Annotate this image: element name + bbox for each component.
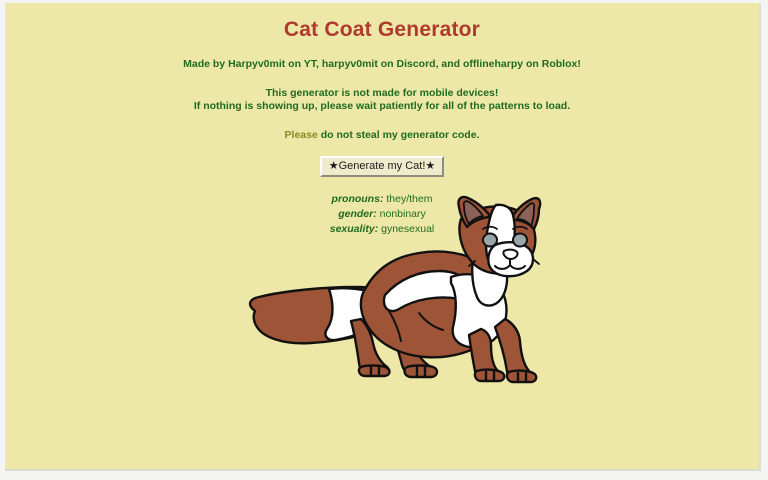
cat-hind-paw-near [404,366,437,378]
cat-eye-left [483,234,497,247]
cat-front-paw-near [507,371,536,382]
warning-block: Please do not steal my generator code. [5,114,759,142]
page-content-area: Cat Coat Generator Made by Harpyv0mit on… [5,3,761,471]
cat-svg [243,195,543,395]
warning-please-word: Please [285,129,318,141]
notice-line-1: This generator is not made for mobile de… [5,87,759,100]
page-title: Cat Coat Generator [5,3,759,41]
cat-hind-paw-far [359,366,390,377]
credit-line: Made by Harpyv0mit on YT, harpyv0mit on … [5,41,759,71]
cat-eye-right [513,234,527,247]
cat-illustration [243,195,543,395]
browser-page: Cat Coat Generator Made by Harpyv0mit on… [0,0,768,480]
cat-front-paw-far [475,370,504,381]
warning-rest-text: do not steal my generator code. [318,129,480,141]
notice-block: This generator is not made for mobile de… [5,71,759,114]
generator-layout: Cat Coat Generator Made by Harpyv0mit on… [5,3,759,469]
notice-line-2: If nothing is showing up, please wait pa… [5,100,759,113]
generate-cat-button[interactable]: ★Generate my Cat!★ [320,156,445,177]
cat-nose [503,250,517,259]
generate-button-wrap: ★Generate my Cat!★ [5,141,759,177]
